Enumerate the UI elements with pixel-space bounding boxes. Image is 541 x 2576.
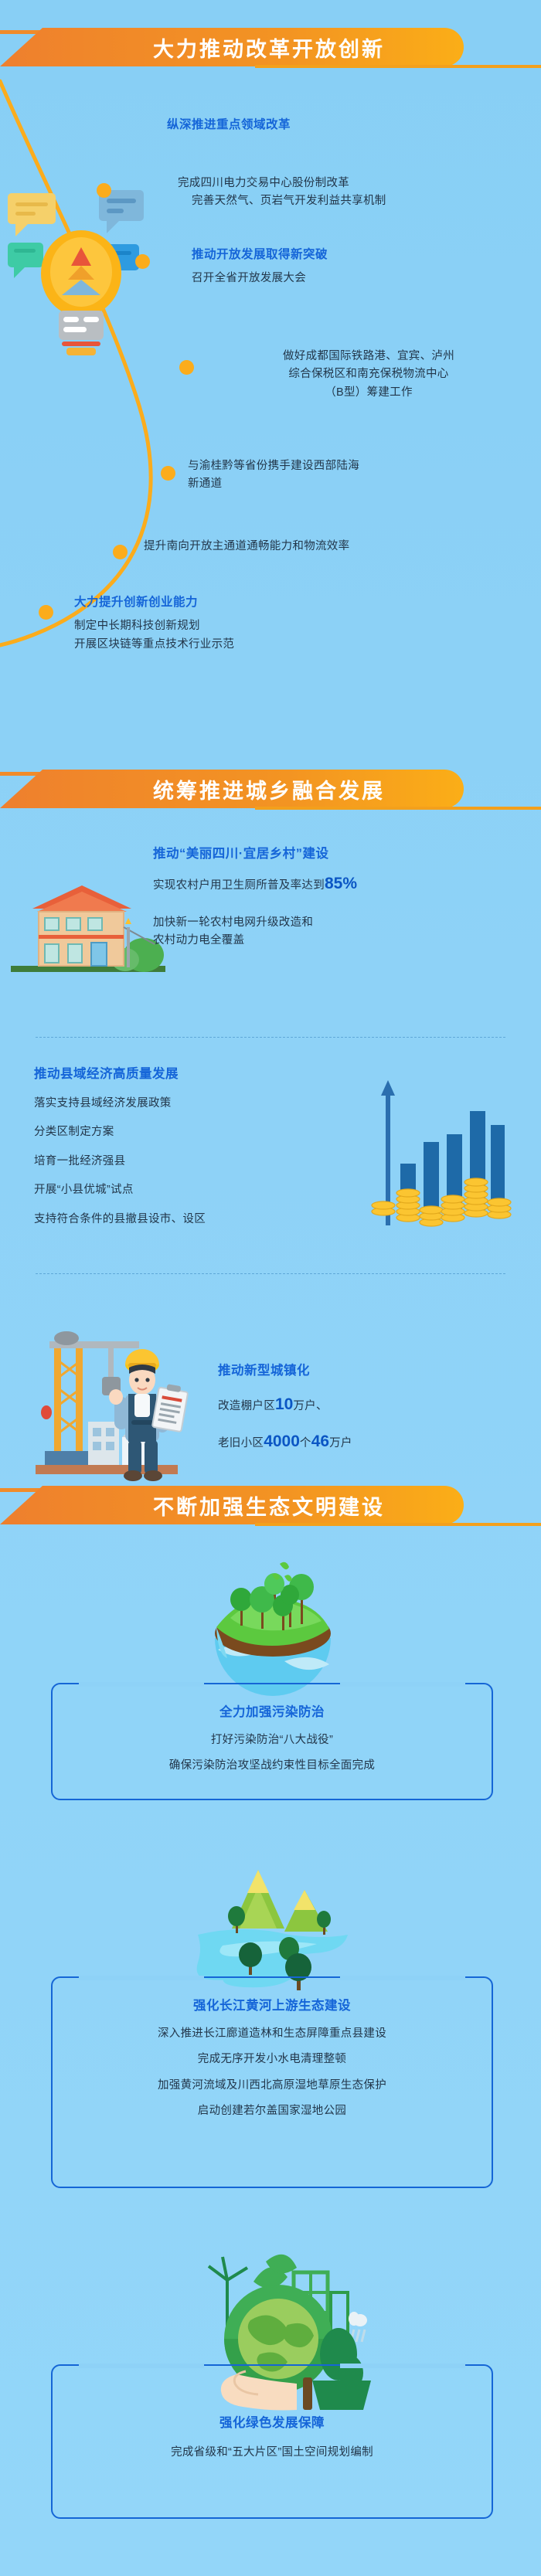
rural-toilet-value: 85% [325, 875, 357, 892]
county-line-5: 支持符合条件的县撤县设市、设区 [34, 1211, 366, 1229]
ecology-card-2: 强化长江黄河上游生态建设 深入推进长江廊道造林和生态屏障重点县建设 完成无序开发… [51, 1976, 493, 2188]
section-title-ecology: 不断加强生态文明建设 [153, 1490, 385, 1521]
urbanization-stat-2: 老旧小区4000个46万户 [218, 1429, 527, 1455]
section-banner-ecology: 不断加强生态文明建设 [0, 1480, 541, 1524]
group-line-6-1: 制定中长期科技创新规划 [74, 617, 476, 635]
card-notch-left [79, 1682, 204, 1687]
group-line-5-1: 提升南向开放主通道通畅能力和物流效率 [144, 538, 530, 556]
mountain-river-icon [192, 1854, 354, 1993]
infographic-page: 大力推动改革开放创新 [0, 0, 541, 2576]
section-title-urban-rural: 统筹推进城乡融合发展 [153, 774, 385, 804]
card-notch-left [79, 2364, 204, 2368]
rural-block: 推动“美丽四川·宜居乡村”建设 实现农村户用卫生厕所普及率达到85% 加快新一轮… [153, 845, 532, 950]
urbanization-stat-1-value: 10 [275, 1395, 293, 1413]
urbanization-stat-2-value-b: 46 [311, 1432, 329, 1450]
lightbulb-illustration [8, 182, 155, 360]
section-title-reform: 大力推动改革开放创新 [153, 32, 385, 63]
county-line-2: 分类区制定方案 [34, 1123, 366, 1141]
ecology-card-2-line-3: 加强黄河流域及川西北高原湿地草原生态保护 [53, 2077, 492, 2095]
county-line-3: 培育一批经济强县 [34, 1153, 366, 1171]
group-line-3-2: 综合保税区和南充保税物流中心 [202, 365, 535, 383]
section-reform: 纵深推进重点领域改革 完成四川电力交易中心股份制改革 完善天然气、页岩气开发利益… [0, 0, 541, 695]
ecology-card-3-line-1: 完成省级和“五大片区”国土空间规划编制 [53, 2444, 492, 2462]
banner-underline [255, 807, 541, 810]
ecology-card-1-line-2: 确保污染防治攻坚战约束性目标全面完成 [53, 1757, 492, 1775]
timeline-dot-5 [113, 545, 128, 559]
ecology-card-1-heading: 全力加强污染防治 [53, 1703, 492, 1722]
construction-worker-icon [31, 1313, 193, 1487]
county-block: 推动县域经济高质量发展 落实支持县域经济发展政策 分类区制定方案 培育一批经济强… [34, 1065, 366, 1229]
timeline-dot-4 [161, 466, 175, 481]
county-line-4: 开展“小县优城”试点 [34, 1181, 366, 1199]
urbanization-stat-1: 改造棚户区10万户、 [218, 1392, 527, 1418]
ecology-card-3-heading: 强化绿色发展保障 [53, 2414, 492, 2433]
banner-plate: 统筹推进城乡融合发展 [74, 770, 464, 808]
group-line-2-1: 召开全省开放发展大会 [192, 270, 541, 287]
card-notch-right [340, 1976, 465, 1980]
banner-plate: 不断加强生态文明建设 [74, 1486, 464, 1524]
divider-1 [36, 1037, 505, 1038]
ecology-card-2-line-2: 完成无序开发小水电清理整顿 [53, 2051, 492, 2068]
group-heading-1: 纵深推进重点领域改革 [167, 116, 530, 134]
worker-figure [109, 1349, 189, 1481]
timeline-dot-1 [97, 183, 111, 198]
county-line-1: 落实支持县域经济发展政策 [34, 1095, 366, 1113]
group-line-3-1: 做好成都国际铁路港、宜宾、泸州 [202, 348, 535, 365]
group-heading-2: 推动开放发展取得新突破 [192, 246, 541, 263]
urbanization-stat-2-post: 万户 [329, 1437, 352, 1449]
urbanization-heading: 推动新型城镇化 [218, 1361, 527, 1381]
banner-underline [255, 1523, 541, 1526]
group-line-6-2: 开展区块链等重点技术行业示范 [74, 636, 476, 654]
coins-growth-chart-icon [371, 1074, 518, 1229]
rural-toilet-text: 实现农村户用卫生厕所普及率达到 [153, 879, 325, 892]
ecology-card-1: 全力加强污染防治 打好污染防治“八大战役” 确保污染防治攻坚战约束性目标全面完成 [51, 1683, 493, 1800]
rural-heading: 推动“美丽四川·宜居乡村”建设 [153, 845, 532, 864]
section-banner-urban-rural: 统筹推进城乡融合发展 [0, 763, 541, 808]
urbanization-block: 推动新型城镇化 改造棚户区10万户、 老旧小区4000个46万户 [218, 1361, 527, 1455]
urbanization-stat-1-post: 万户、 [293, 1400, 327, 1412]
timeline-dot-2 [135, 254, 150, 269]
group-line-3-3: （B型）筹建工作 [202, 384, 535, 402]
rural-toilet-line: 实现农村户用卫生厕所普及率达到85% [153, 871, 532, 897]
county-heading: 推动县域经济高质量发展 [34, 1065, 366, 1084]
timeline-dot-6 [39, 605, 53, 620]
card-notch-right [340, 2364, 465, 2368]
timeline-dot-3 [179, 360, 194, 375]
card-notch-right [340, 1682, 465, 1687]
urbanization-stat-2-mid: 个 [300, 1437, 311, 1449]
ecology-card-2-line-1: 深入推进长江廊道造林和生态屏障重点县建设 [53, 2025, 492, 2043]
group-heading-6: 大力提升创新创业能力 [74, 593, 476, 611]
village-house-icon [11, 873, 165, 981]
rural-grid-line-2: 农村动力电全覆盖 [153, 932, 532, 950]
card-notch-left [79, 1976, 204, 1980]
ecology-card-3: 强化绿色发展保障 完成省级和“五大片区”国土空间规划编制 [51, 2364, 493, 2519]
urbanization-stat-2-pre: 老旧小区 [218, 1437, 264, 1449]
urbanization-stat-1-pre: 改造棚户区 [218, 1400, 275, 1412]
rural-grid-line-1: 加快新一轮农村电网升级改造和 [153, 914, 532, 932]
group-line-4-2: 新通道 [188, 475, 528, 493]
urbanization-stat-2-value-a: 4000 [264, 1432, 300, 1450]
group-line-1-2: 完善天然气、页岩气开发利益共享机制 [192, 192, 533, 210]
divider-2 [36, 1273, 505, 1274]
ecology-card-1-line-1: 打好污染防治“八大战役” [53, 1731, 492, 1749]
ecology-card-2-heading: 强化长江黄河上游生态建设 [53, 1997, 492, 2016]
ecology-card-2-line-4: 启动创建若尔盖国家湿地公园 [53, 2102, 492, 2120]
group-line-4-1: 与渝桂黔等省份携手建设西部陆海 [188, 457, 528, 475]
group-line-1-1: 完成四川电力交易中心股份制改革 [178, 175, 533, 192]
